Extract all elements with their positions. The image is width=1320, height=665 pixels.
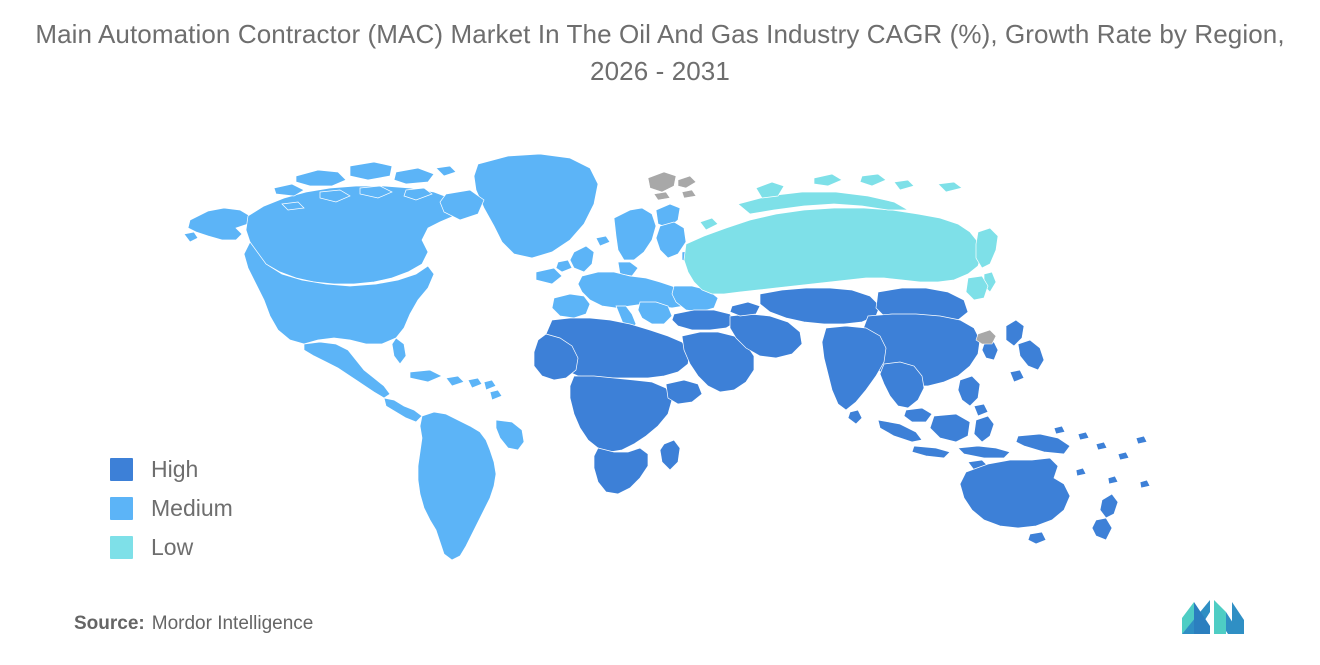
map-legend: High Medium Low bbox=[110, 450, 233, 567]
legend-item-high[interactable]: High bbox=[110, 450, 233, 489]
map-region-africa-middle-east bbox=[534, 302, 802, 494]
map-regions bbox=[184, 154, 1150, 560]
legend-label-high: High bbox=[151, 458, 198, 481]
legend-swatch-medium bbox=[110, 497, 133, 520]
legend-label-low: Low bbox=[151, 536, 193, 559]
map-region-asia bbox=[760, 288, 1070, 470]
source-value: Mordor Intelligence bbox=[152, 613, 314, 634]
legend-item-medium[interactable]: Medium bbox=[110, 489, 233, 528]
legend-label-medium: Medium bbox=[151, 497, 233, 520]
legend-item-low[interactable]: Low bbox=[110, 528, 233, 567]
legend-swatch-low bbox=[110, 536, 133, 559]
mordor-intelligence-logo bbox=[1180, 598, 1248, 636]
source-label: Source: bbox=[74, 613, 145, 634]
world-choropleth-map bbox=[178, 148, 1188, 578]
map-region-north-america bbox=[184, 154, 598, 422]
legend-swatch-high bbox=[110, 458, 133, 481]
page-title: Main Automation Contractor (MAC) Market … bbox=[0, 16, 1320, 91]
source-attribution: Source:Mordor Intelligence bbox=[74, 613, 313, 635]
map-region-russia bbox=[684, 174, 998, 300]
map-region-south-america bbox=[418, 412, 524, 560]
